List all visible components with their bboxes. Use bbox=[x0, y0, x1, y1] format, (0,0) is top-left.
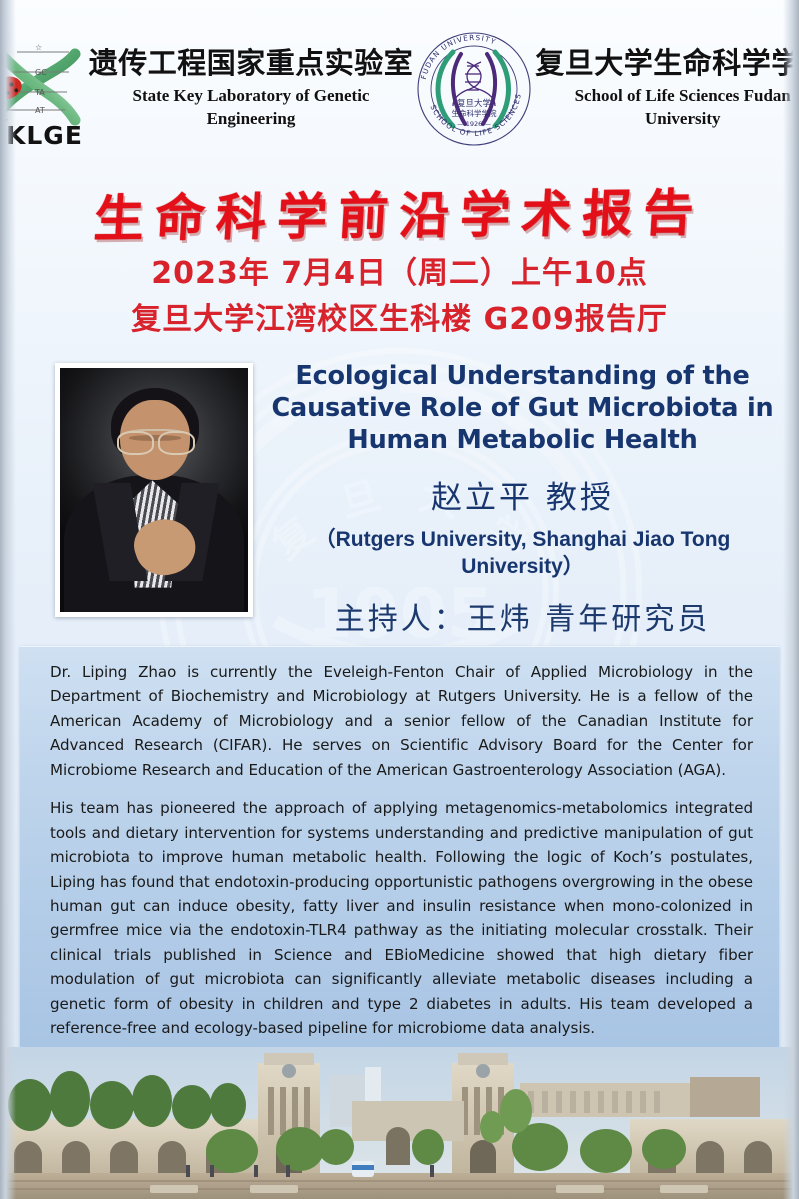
seal-inner-cn1: 复旦大学 bbox=[457, 98, 492, 109]
right-org-name-cn: 复旦大学生命科学学院 bbox=[535, 47, 799, 80]
abstract-paragraph: His team has pioneered the approach of a… bbox=[50, 796, 753, 1040]
seal-inner-year: — 1926 — bbox=[457, 120, 491, 128]
talk-title: Ecological Understanding of the Causativ… bbox=[268, 360, 777, 456]
event-venue: 复旦大学江湾校区生科楼 G209报告厅 bbox=[0, 294, 799, 338]
event-datetime: 2023年 7月4日（周二）上午10点 bbox=[0, 248, 799, 292]
seminar-poster: 复 旦 大 学 1905 bbox=[0, 0, 799, 1199]
speaker-portrait bbox=[55, 363, 253, 617]
svg-text:AT: AT bbox=[35, 106, 45, 115]
right-org-name-en: School of Life Sciences Fudan University bbox=[573, 85, 793, 131]
speaker-affiliation: （Rutgers University, Shanghai Jiao Tong … bbox=[268, 527, 777, 580]
speaker-name: 赵立平 教授 bbox=[268, 472, 777, 517]
svg-text:☆: ☆ bbox=[35, 43, 42, 52]
header-right-org: 复旦大学 生命科学学院 — 1926 — FUDAN UNIVERSITY SC… bbox=[413, 28, 799, 150]
campus-photo bbox=[0, 1047, 799, 1199]
sklge-acronym-label: SKLGE bbox=[0, 121, 83, 148]
poster-title: 生命科学前沿学术报告 bbox=[0, 172, 799, 252]
abstract-paragraph: Dr. Liping Zhao is currently the Eveleig… bbox=[50, 660, 753, 782]
header-left-org: ☆ GC TA AT 1984 SKLGE bbox=[0, 30, 413, 148]
abstract-box: Dr. Liping Zhao is currently the Eveleig… bbox=[20, 646, 779, 1060]
sklge-logo-icon: ☆ GC TA AT 1984 SKLGE bbox=[0, 30, 89, 148]
seal-inner-cn2: 生命科学学院 bbox=[452, 108, 497, 118]
fudan-life-sciences-seal-icon: 复旦大学 生命科学学院 — 1926 — FUDAN UNIVERSITY SC… bbox=[413, 28, 535, 150]
svg-text:TA: TA bbox=[34, 88, 45, 97]
left-org-name-cn: 遗传工程国家重点实验室 bbox=[89, 47, 414, 80]
speaker-section: Ecological Understanding of the Causativ… bbox=[0, 360, 799, 645]
svg-text:GC: GC bbox=[35, 68, 47, 77]
left-org-name-en: State Key Laboratory of Genetic Engineer… bbox=[126, 85, 376, 131]
poster-header: ☆ GC TA AT 1984 SKLGE bbox=[0, 24, 799, 154]
session-host: 主持人：王炜 青年研究员 bbox=[268, 594, 777, 638]
